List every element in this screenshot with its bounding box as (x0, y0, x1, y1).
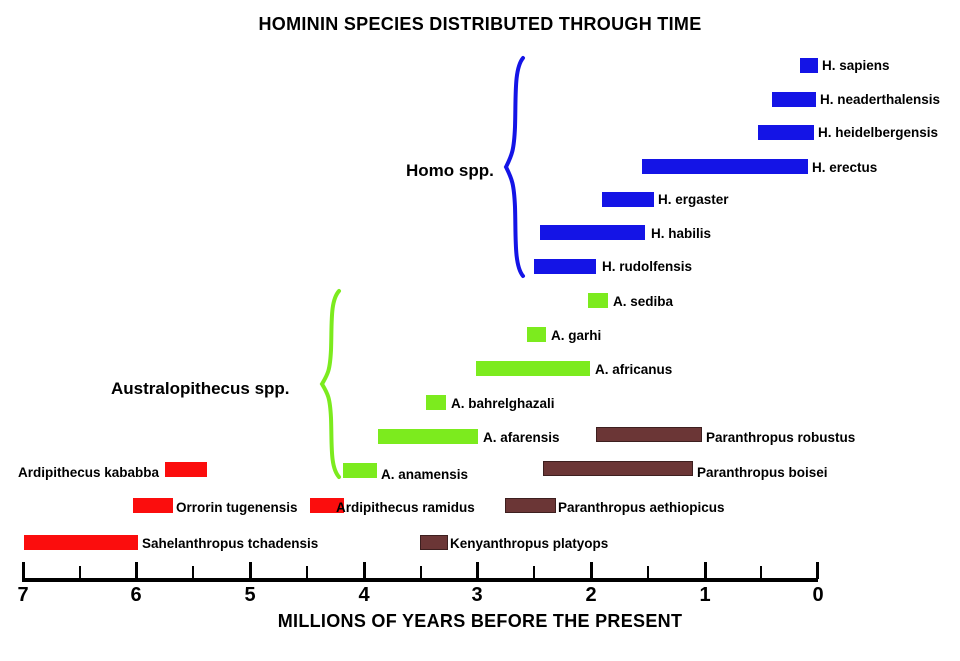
bar-h-erectus (642, 159, 808, 174)
group-label-australopithecus: Australopithecus spp. (111, 379, 290, 399)
x-tick-label-1: 1 (690, 584, 720, 607)
bar-label-paranthropus-boisei: Paranthropus boisei (697, 465, 828, 480)
bar-label-ardipithecus-ramidus: Ardipithecus ramidus (336, 500, 475, 515)
x-tick-label-6: 6 (121, 584, 151, 607)
bar-a-afarensis (378, 429, 478, 444)
x-tick-major-5 (249, 562, 252, 579)
brace-homo (503, 55, 533, 280)
bar-label-a-garhi: A. garhi (551, 328, 601, 343)
bar-label-h-erectus: H. erectus (812, 160, 877, 175)
bar-ardipithecus-kababba (165, 462, 207, 477)
bar-a-anamensis (343, 463, 377, 478)
x-tick-major-1 (704, 562, 707, 579)
brace-australopithecus (318, 288, 348, 480)
bar-h-ergaster (602, 192, 654, 207)
bar-label-sahelanthropus-tchadensis: Sahelanthropus tchadensis (142, 536, 318, 551)
x-tick-label-0: 0 (803, 584, 833, 607)
bar-label-a-africanus: A. africanus (595, 362, 672, 377)
bar-a-sediba (588, 293, 608, 308)
bar-label-ardipithecus-kababba: Ardipithecus kababba (18, 465, 159, 480)
page-title: HOMININ SPECIES DISTRIBUTED THROUGH TIME (0, 14, 960, 35)
bar-a-garhi (527, 327, 546, 342)
bar-label-paranthropus-robustus: Paranthropus robustus (706, 430, 855, 445)
x-tick-major-4 (363, 562, 366, 579)
x-tick-minor-2-5 (533, 566, 535, 579)
group-label-homo: Homo spp. (406, 161, 494, 181)
x-tick-minor-5-5 (192, 566, 194, 579)
x-tick-minor-1-5 (647, 566, 649, 579)
bar-orrorin-tugenensis (133, 498, 173, 513)
bar-label-h-neaderthalensis: H. neaderthalensis (820, 92, 940, 107)
bar-paranthropus-aethiopicus (505, 498, 556, 513)
hominin-timeline-chart: HOMININ SPECIES DISTRIBUTED THROUGH TIME… (0, 0, 960, 661)
x-tick-label-2: 2 (576, 584, 606, 607)
x-tick-major-6 (135, 562, 138, 579)
bar-h-habilis (540, 225, 645, 240)
x-tick-major-3 (476, 562, 479, 579)
bar-label-kenyanthropus-platyops: Kenyanthropus platyops (450, 536, 608, 551)
bar-label-a-bahrelghazali: A. bahrelghazali (451, 396, 555, 411)
x-tick-label-5: 5 (235, 584, 265, 607)
x-tick-major-2 (590, 562, 593, 579)
bar-label-orrorin-tugenensis: Orrorin tugenensis (176, 500, 298, 515)
bar-h-sapiens (800, 58, 818, 73)
bar-label-a-anamensis: A. anamensis (381, 467, 468, 482)
x-tick-minor-3-5 (420, 566, 422, 579)
bar-a-africanus (476, 361, 590, 376)
bar-label-paranthropus-aethiopicus: Paranthropus aethiopicus (558, 500, 725, 515)
bar-paranthropus-robustus (596, 427, 702, 442)
x-tick-minor-4-5 (306, 566, 308, 579)
bar-sahelanthropus-tchadensis (24, 535, 138, 550)
x-axis-title: MILLIONS OF YEARS BEFORE THE PRESENT (0, 611, 960, 632)
bar-label-h-ergaster: H. ergaster (658, 192, 729, 207)
bar-label-h-sapiens: H. sapiens (822, 58, 890, 73)
bar-label-a-sediba: A. sediba (613, 294, 673, 309)
x-tick-label-3: 3 (462, 584, 492, 607)
bar-h-heidelbergensis (758, 125, 814, 140)
bar-kenyanthropus-platyops (420, 535, 448, 550)
bar-label-a-afarensis: A. afarensis (483, 430, 560, 445)
bar-h-neaderthalensis (772, 92, 816, 107)
x-tick-minor-0-5 (760, 566, 762, 579)
bar-a-bahrelghazali (426, 395, 446, 410)
x-tick-label-7: 7 (8, 584, 38, 607)
bar-paranthropus-boisei (543, 461, 693, 476)
x-tick-label-4: 4 (349, 584, 379, 607)
x-tick-major-7 (22, 562, 25, 579)
bar-label-h-rudolfensis: H. rudolfensis (602, 259, 692, 274)
bar-label-h-heidelbergensis: H. heidelbergensis (818, 125, 938, 140)
bar-label-h-habilis: H. habilis (651, 226, 711, 241)
x-tick-minor-6-5 (79, 566, 81, 579)
x-tick-major-0 (816, 562, 819, 579)
bar-h-rudolfensis (534, 259, 596, 274)
